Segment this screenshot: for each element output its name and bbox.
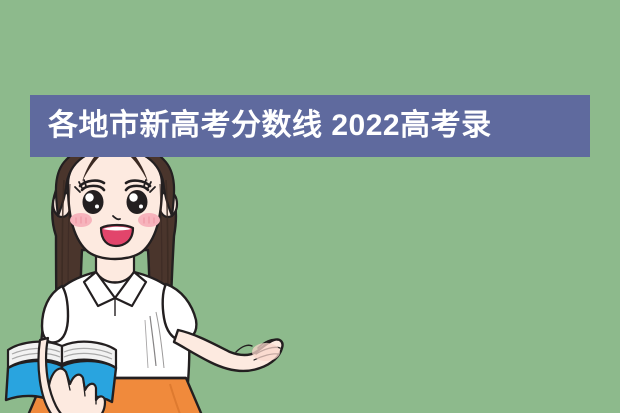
gesture-arm-icon bbox=[174, 330, 283, 371]
page-title: 各地市新高考分数线 2022高考录 bbox=[48, 111, 492, 141]
page-root: 各地市新高考分数线 2022高考录 bbox=[0, 0, 620, 413]
title-banner: 各地市新高考分数线 2022高考录 bbox=[30, 95, 590, 157]
student-illustration bbox=[0, 140, 300, 413]
